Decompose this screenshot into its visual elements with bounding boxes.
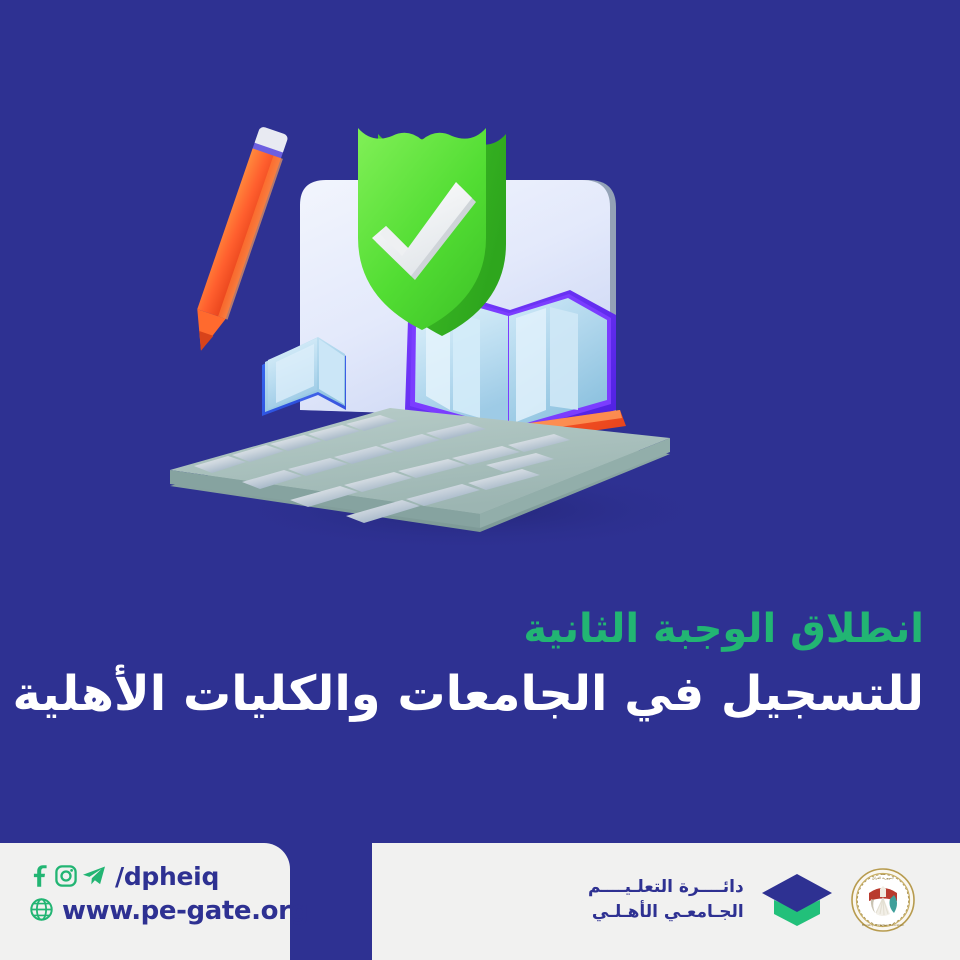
graduation-cap-icon xyxy=(760,870,834,930)
facebook-icon[interactable] xyxy=(30,865,50,887)
website-row[interactable]: www.pe-gate.org xyxy=(30,893,309,929)
social-links-block: /dpheiq www.pe-gate.org xyxy=(30,859,309,929)
instagram-icon[interactable] xyxy=(55,865,77,887)
svg-text:Ministry of Higher Education: Ministry of Higher Education xyxy=(861,923,904,927)
website-text[interactable]: www.pe-gate.org xyxy=(62,896,309,926)
brand-name: دائــــرة التعلـيــــم الجـامعـي الأهـلـ… xyxy=(588,875,744,926)
hero-illustration xyxy=(150,110,790,550)
svg-text:جمهورية العراق: جمهورية العراق xyxy=(872,876,894,880)
orange-pencil xyxy=(185,126,291,356)
headline-block: انطلاق الوجبة الثانية للتسجيل في الجامعا… xyxy=(24,600,924,730)
headline-line-1: انطلاق الوجبة الثانية xyxy=(24,600,924,658)
globe-icon[interactable] xyxy=(30,898,53,925)
footer-bar: /dpheiq www.pe-gate.org دائــــرة ا xyxy=(0,843,960,960)
social-handle-row[interactable]: /dpheiq xyxy=(30,859,309,893)
headline-line-2: للتسجيل في الجامعات والكليات الأهلية xyxy=(24,658,924,730)
social-handle-text[interactable]: /dpheiq xyxy=(115,862,219,891)
telegram-icon[interactable] xyxy=(82,865,106,887)
brand-logo-block: دائــــرة التعلـيــــم الجـامعـي الأهـلـ… xyxy=(588,867,916,933)
brand-line-2: الجـامعـي الأهـلـي xyxy=(588,900,744,926)
poster-canvas: انطلاق الوجبة الثانية للتسجيل في الجامعا… xyxy=(0,0,960,960)
ministry-seal-icon: جمهورية العراق Ministry of Higher Educat… xyxy=(850,867,916,933)
brand-line-1: دائــــرة التعلـيــــم xyxy=(588,875,744,901)
